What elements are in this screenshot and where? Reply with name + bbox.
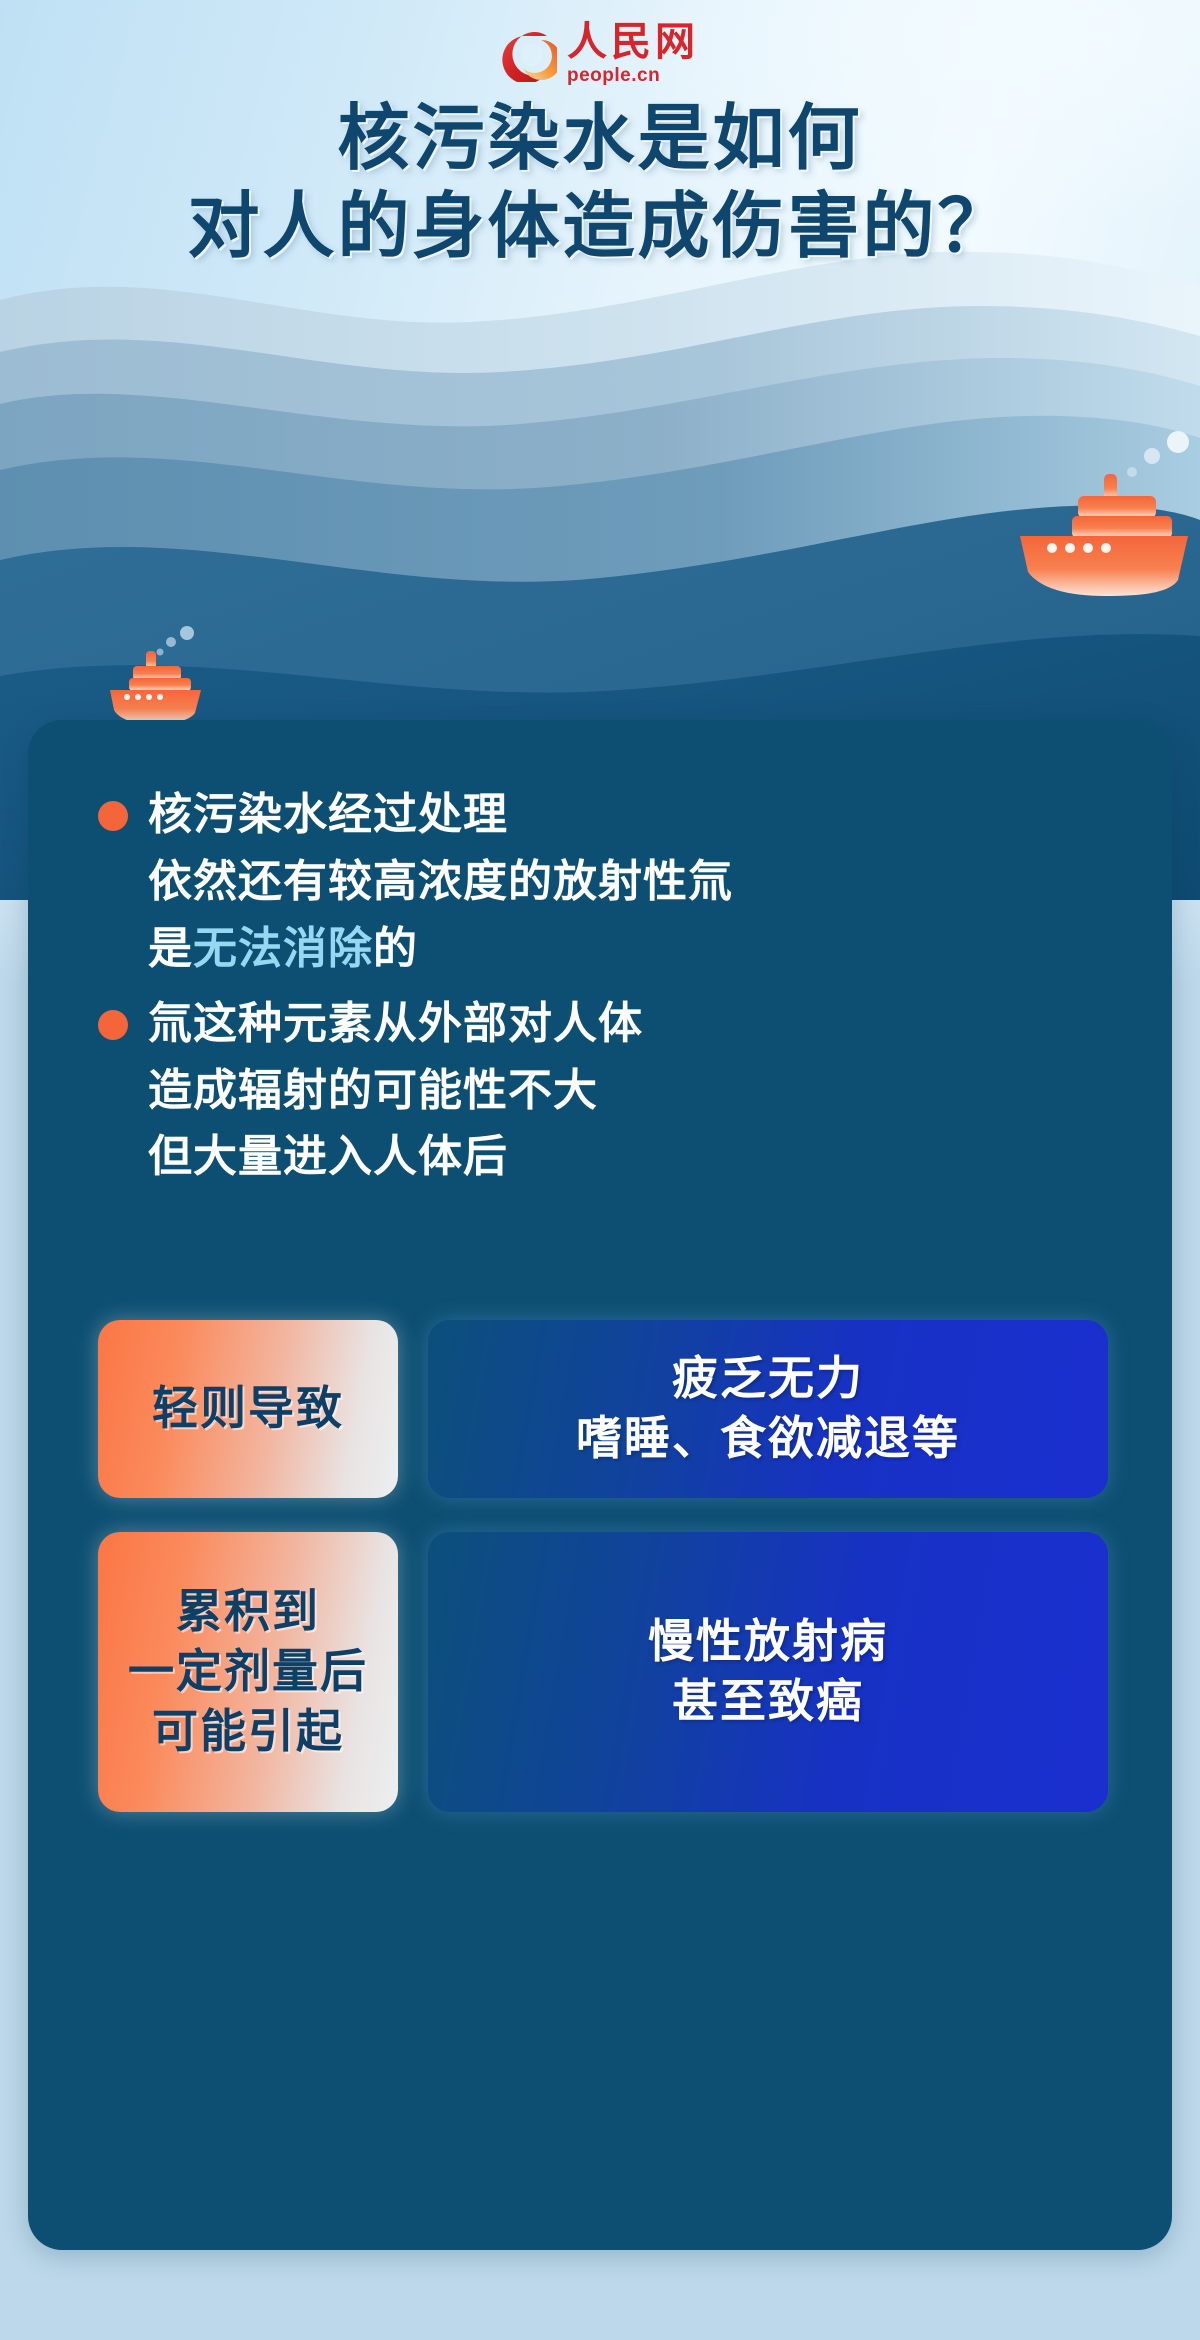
bullet-1-line-3-part-3: 的 xyxy=(373,924,418,973)
box-accumulated-dose-line-3: 可能引起 xyxy=(128,1702,368,1762)
box-mild-symptoms: 疲乏无力 嗜睡、食欲减退等 xyxy=(428,1320,1108,1498)
bullet-gap-divider xyxy=(98,983,1124,991)
bullet-1-line-3-part-1: 是 xyxy=(148,924,193,973)
box-mild-symptoms-line-2: 嗜睡、食欲减退等 xyxy=(576,1409,960,1469)
list-item: 造成辐射的可能性不大 xyxy=(98,1058,1124,1125)
bullet-1-line-3: 是无法消除的 xyxy=(148,916,418,983)
bullet-indent-spacer xyxy=(98,868,128,898)
box-severe-outcome: 慢性放射病 甚至致癌 xyxy=(428,1532,1108,1812)
box-severe-outcome-line-2: 甚至致癌 xyxy=(648,1672,888,1732)
bullet-1-line-2: 依然还有较高浓度的放射性氚 xyxy=(148,849,733,916)
bullet-2-line-3: 但大量进入人体后 xyxy=(148,1124,508,1191)
people-cn-swirl-logo-icon xyxy=(501,26,557,82)
brand-name-cn: 人民网 xyxy=(567,22,699,62)
bullet-list: 核污染水经过处理 依然还有较高浓度的放射性氚 是无法消除的 氚这种元素从外部对人… xyxy=(98,782,1124,1191)
content-panel: 核污染水经过处理 依然还有较高浓度的放射性氚 是无法消除的 氚这种元素从外部对人… xyxy=(28,720,1172,2250)
box-severe-outcome-line-1: 慢性放射病 xyxy=(648,1612,888,1672)
box-mild-symptoms-text: 疲乏无力 嗜睡、食欲减退等 xyxy=(576,1349,960,1469)
box-mild-cause-line-1: 轻则导致 xyxy=(152,1379,344,1439)
box-severe-outcome-text: 慢性放射病 甚至致癌 xyxy=(648,1612,888,1732)
bullet-indent-spacer xyxy=(98,935,128,965)
brand-logo: 人民网 people.cn xyxy=(0,22,1200,85)
list-item: 核污染水经过处理 xyxy=(98,782,1124,849)
bullet-dot-icon xyxy=(98,801,128,831)
cargo-ship-icon-large xyxy=(1010,430,1200,600)
bullet-1-line-3-highlight: 无法消除 xyxy=(193,924,373,973)
bullet-dot-icon xyxy=(98,1010,128,1040)
outcome-grid: 轻则导致 疲乏无力 嗜睡、食欲减退等 累积到 一定剂量后 可能引起 慢性放射病 … xyxy=(98,1320,1108,1812)
box-mild-cause-text: 轻则导致 xyxy=(152,1379,344,1439)
bullet-2-line-2: 造成辐射的可能性不大 xyxy=(148,1058,598,1125)
box-mild-cause: 轻则导致 xyxy=(98,1320,398,1498)
list-item: 是无法消除的 xyxy=(98,916,1124,983)
bullet-2-line-1: 氚这种元素从外部对人体 xyxy=(148,991,643,1058)
list-item: 依然还有较高浓度的放射性氚 xyxy=(98,849,1124,916)
bullet-indent-spacer xyxy=(98,1143,128,1173)
list-item: 但大量进入人体后 xyxy=(98,1124,1124,1191)
box-mild-symptoms-line-1: 疲乏无力 xyxy=(576,1349,960,1409)
bullet-1-line-1: 核污染水经过处理 xyxy=(148,782,508,849)
brand-name-en: people.cn xyxy=(567,66,660,85)
box-accumulated-dose-text: 累积到 一定剂量后 可能引起 xyxy=(128,1582,368,1761)
box-accumulated-dose: 累积到 一定剂量后 可能引起 xyxy=(98,1532,398,1812)
cargo-ship-icon-small xyxy=(105,625,230,730)
bullet-indent-spacer xyxy=(98,1077,128,1107)
page-title-line-2: 对人的身体造成伤害的？ xyxy=(0,184,1200,272)
list-item: 氚这种元素从外部对人体 xyxy=(98,991,1124,1058)
box-accumulated-dose-line-2: 一定剂量后 xyxy=(128,1642,368,1702)
page-title-line-1: 核污染水是如何 xyxy=(0,96,1200,184)
box-accumulated-dose-line-1: 累积到 xyxy=(128,1582,368,1642)
page-title: 核污染水是如何 对人的身体造成伤害的？ xyxy=(0,96,1200,272)
